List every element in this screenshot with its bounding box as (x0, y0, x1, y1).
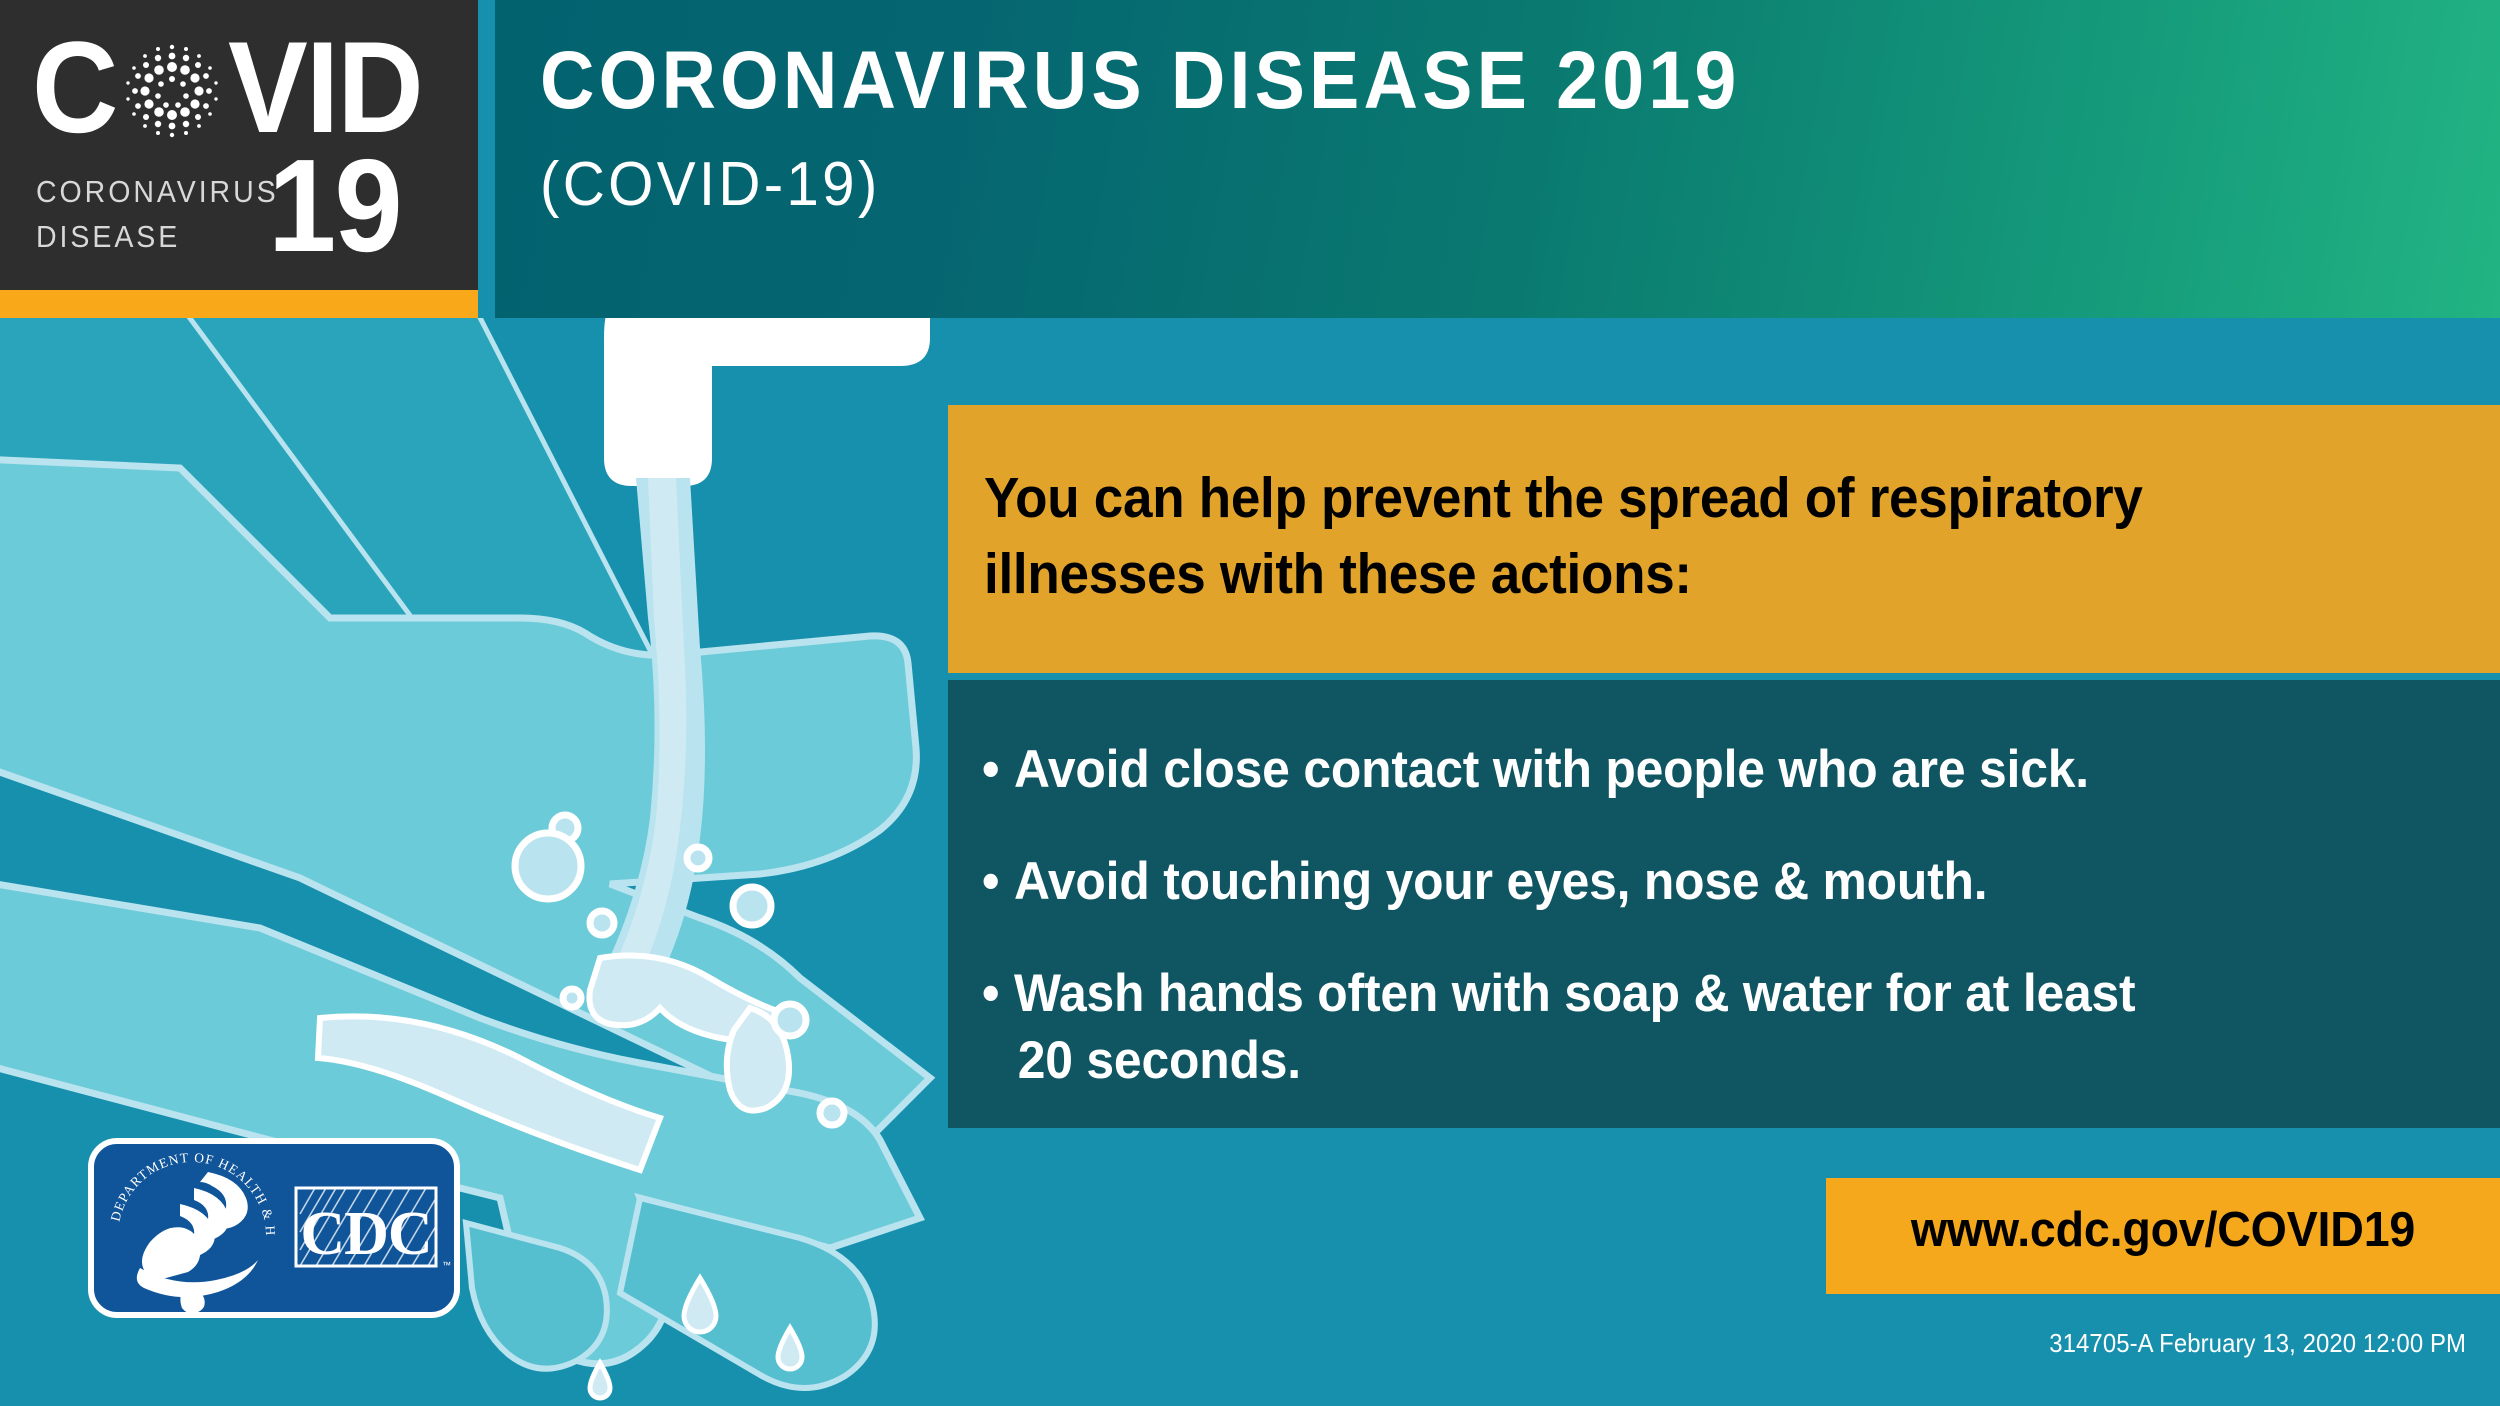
bubble-small-5 (563, 989, 581, 1007)
page-title: CORONAVIRUS DISEASE 2019 (540, 38, 1741, 124)
logo-subtitle-line1: CORONAVIRUS (36, 170, 279, 215)
list-item-text: Avoid touching your eyes, nose & mouth. (1014, 852, 1987, 911)
bullet-marker: • (982, 848, 999, 916)
svg-text:CDC: CDC (300, 1200, 431, 1268)
virus-halftone-icon (118, 33, 226, 141)
website-url-label[interactable]: www.cdc.gov/COVID19 (1843, 1206, 2483, 1255)
logo-subtitle-line2: DISEASE (36, 215, 279, 260)
bullet-marker: • (982, 736, 999, 804)
cdc-wordmark: CDC ™ (296, 1188, 451, 1270)
bubble-small-2 (590, 911, 614, 935)
prevention-heading-box: You can help prevent the spread of respi… (948, 405, 2500, 673)
bullet-marker: • (982, 960, 999, 1028)
header-divider (478, 0, 495, 318)
bubble-medium-1 (733, 887, 771, 925)
bubble-large-1 (515, 833, 581, 899)
publication-id-and-timestamp: 314705-A February 13, 2020 12:00 PM (2049, 1330, 2466, 1356)
website-url-box[interactable]: www.cdc.gov/COVID19 (1826, 1178, 2500, 1294)
list-item-text: Avoid close contact with people who are … (1014, 740, 2089, 799)
logo-letter-c: C (32, 22, 117, 152)
bubble-small-3 (687, 847, 709, 869)
list-item: • Wash hands often with soap & water for… (982, 960, 2373, 1096)
bubble-small-4 (820, 1101, 844, 1125)
list-item-text: Wash hands often with soap & water for a… (1014, 964, 2136, 1023)
list-item-text-continuation: 20 seconds. (1014, 1027, 2373, 1095)
cdc-logo: DEPARTMENT OF HEALTH & HUMAN SERVICES·US… (88, 1138, 460, 1318)
covid19-logo-block: C (0, 0, 478, 318)
logo-subtitle: CORONAVIRUS DISEASE (36, 170, 279, 260)
list-item: • Avoid touching your eyes, nose & mouth… (982, 848, 2373, 916)
poster-header: C (0, 0, 2500, 318)
page-subtitle: (COVID-19) (540, 152, 881, 217)
covid19-infographic-poster: C (0, 0, 2500, 1406)
prevention-actions-box: • Avoid close contact with people who ar… (948, 680, 2500, 1128)
prevention-heading-text: You can help prevent the spread of respi… (984, 461, 2351, 613)
list-item: • Avoid close contact with people who ar… (982, 736, 2373, 804)
logo-gold-accent-bar (0, 290, 478, 318)
logo-year-19: 19 (268, 140, 401, 272)
svg-text:™: ™ (442, 1260, 451, 1270)
prevention-actions-list: • Avoid close contact with people who ar… (982, 736, 2373, 1095)
bubble-medium-2 (774, 1004, 806, 1036)
